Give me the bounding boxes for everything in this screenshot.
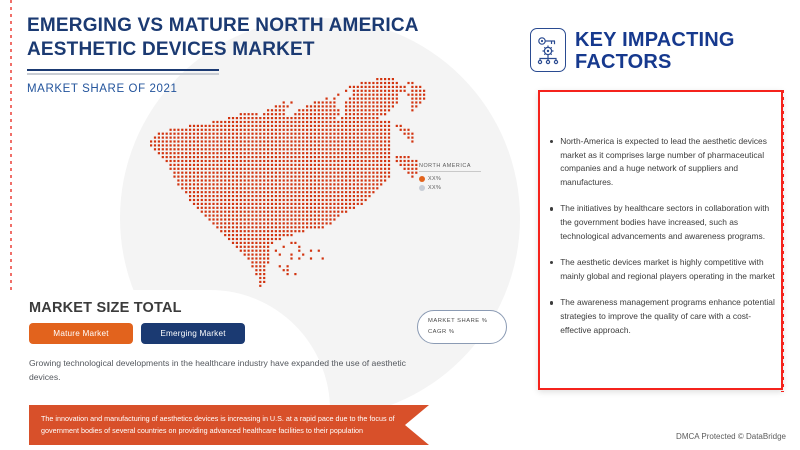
factor-text: The awareness management programs enhanc… <box>560 296 778 337</box>
list-item: North-America is expected to lead the ae… <box>550 135 778 189</box>
bullet-dot-icon <box>550 207 553 210</box>
factor-text: North-America is expected to lead the ae… <box>560 135 778 189</box>
legend-value: XX% <box>428 185 441 191</box>
highlight-banner: The innovation and manufacturing of aest… <box>29 405 429 445</box>
legend-orange-dot-icon <box>419 176 425 182</box>
page-title: EMERGING VS MATURE NORTH AMERICA AESTHET… <box>27 14 527 62</box>
market-size-chips: Mature Market Emerging Market <box>29 323 245 344</box>
chip-mature-market[interactable]: Mature Market <box>29 323 133 344</box>
badge-line-1: MARKET SHARE % <box>428 316 506 327</box>
map-legend: NORTH AMERICA XX% XX% <box>419 163 511 191</box>
badge-line-2: CAGR % <box>428 327 506 338</box>
panel-title: KEY IMPACTING FACTORS <box>575 28 800 74</box>
list-item: The initiatives by healthcare sectors in… <box>550 202 778 243</box>
legend-value: XX% <box>428 176 441 182</box>
footer-copyright: DMCA Protected © DataBridge <box>676 432 786 441</box>
banner-text: The innovation and manufacturing of aest… <box>29 413 429 437</box>
map-legend-row: XX% <box>419 185 511 191</box>
list-item: The aesthetic devices market is highly c… <box>550 256 778 283</box>
chip-emerging-market[interactable]: Emerging Market <box>141 323 245 344</box>
bullet-dot-icon <box>550 301 553 304</box>
legend-grey-dot-icon <box>419 185 425 191</box>
bullet-dot-icon <box>550 140 553 143</box>
factors-box-dotted-edge <box>781 90 784 392</box>
title-rule-secondary <box>27 73 219 75</box>
infographic-page: EMERGING VS MATURE NORTH AMERICA AESTHET… <box>0 0 800 450</box>
key-network-icon <box>530 28 566 72</box>
map-legend-title: NORTH AMERICA <box>419 163 481 172</box>
list-item: The awareness management programs enhanc… <box>550 296 778 337</box>
market-share-cagr-badge: MARKET SHARE % CAGR % <box>417 310 507 344</box>
factor-text: The aesthetic devices market is highly c… <box>560 256 778 283</box>
map-legend-row: XX% <box>419 176 511 182</box>
bullet-dot-icon <box>550 261 553 264</box>
market-size-title: MARKET SIZE TOTAL <box>29 300 182 316</box>
factors-list: North-America is expected to lead the ae… <box>550 135 778 350</box>
factor-text: The initiatives by healthcare sectors in… <box>560 202 778 243</box>
title-rule-primary <box>27 69 219 71</box>
body-copy: Growing technological developments in th… <box>29 356 429 384</box>
panel-header: KEY IMPACTING FACTORS <box>530 28 800 74</box>
